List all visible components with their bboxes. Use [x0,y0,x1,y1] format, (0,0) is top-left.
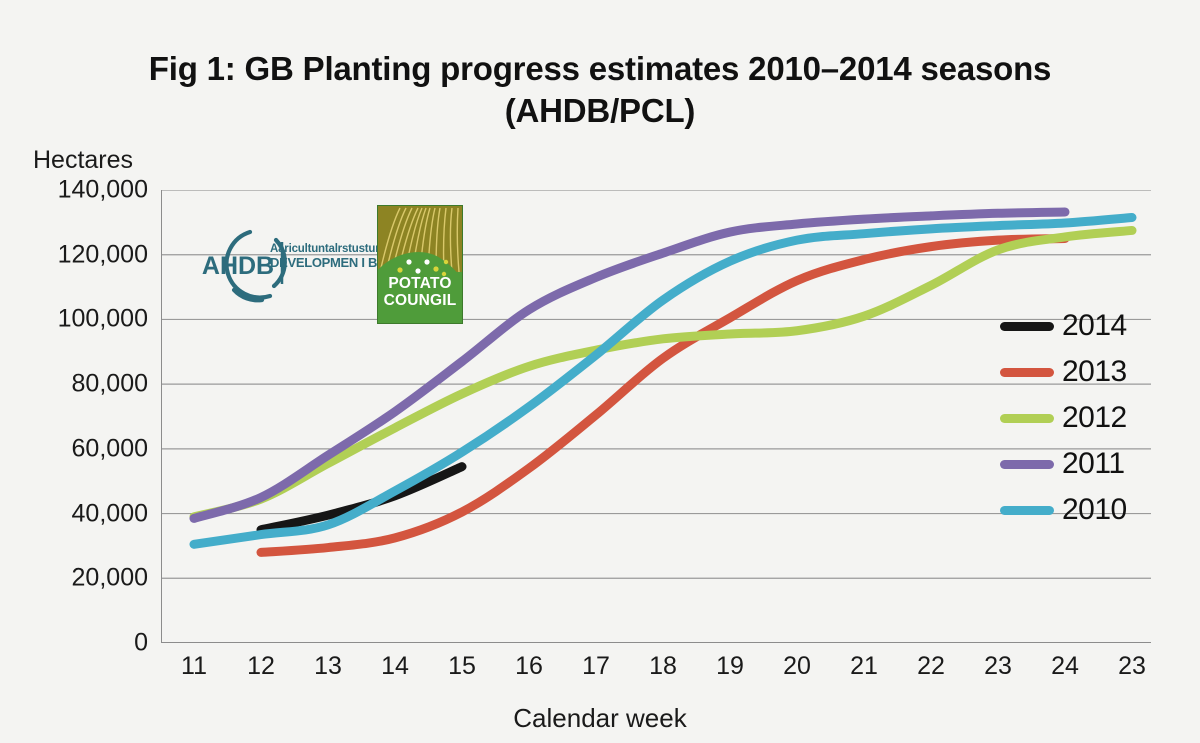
chart-legend: 20142013201220112010 [1000,303,1127,533]
y-axis-tick-label: 0 [28,629,148,658]
y-axis-title: Hectares [33,146,133,175]
legend-swatch-icon [1000,322,1054,331]
potato-council-line-2: COUNGIL [378,293,462,310]
chart-title-line-1: Fig 1: GB Planting progress estimates 20… [149,50,1051,87]
legend-swatch-icon [1000,460,1054,469]
x-axis-tick-label: 17 [566,652,626,681]
x-axis-tick-label: 12 [231,652,291,681]
x-axis-tick-label: 23 [968,652,1028,681]
x-axis-tick-label: 19 [700,652,760,681]
x-axis-tick-label: 22 [901,652,961,681]
legend-label: 2014 [1062,309,1127,343]
x-axis-tick-label: 14 [365,652,425,681]
chart-title-line-2: (AHDB/PCL) [0,90,1200,132]
page-title: Fig 1: GB Planting progress estimates 20… [0,48,1200,132]
legend-label: 2010 [1062,493,1127,527]
legend-item-2014[interactable]: 2014 [1000,303,1127,349]
ahdb-mark-text: AHDB [202,252,274,280]
x-axis-tick-label: 23 [1102,652,1162,681]
x-axis-tick-label: 16 [499,652,559,681]
x-axis-tick-label: 20 [767,652,827,681]
x-axis-tick-label: 11 [164,652,224,681]
legend-swatch-icon [1000,368,1054,377]
x-axis-tick-label: 13 [298,652,358,681]
potato-council-wordmark: POTATO COUNGIL [378,276,462,309]
y-axis-tick-label: 40,000 [28,499,148,528]
legend-item-2011[interactable]: 2011 [1000,441,1127,487]
potato-council-line-1: POTATO [378,276,462,293]
y-axis-tick-label: 80,000 [28,370,148,399]
x-axis-tick-label: 18 [633,652,693,681]
y-axis-tick-label: 20,000 [28,564,148,593]
legend-swatch-icon [1000,414,1054,423]
y-axis-tick-label: 140,000 [28,176,148,205]
legend-label: 2013 [1062,355,1127,389]
legend-item-2013[interactable]: 2013 [1000,349,1127,395]
legend-label: 2012 [1062,401,1127,435]
legend-item-2010[interactable]: 2010 [1000,487,1127,533]
x-axis-tick-label: 21 [834,652,894,681]
potato-council-logo: POTATO COUNGIL [377,205,463,324]
y-axis-tick-label: 60,000 [28,434,148,463]
x-axis-tick-label: 15 [432,652,492,681]
y-axis-tick-label: 100,000 [28,305,148,334]
y-axis-tick-label: 120,000 [28,240,148,269]
x-axis-title: Calendar week [0,703,1200,734]
legend-swatch-icon [1000,506,1054,515]
x-axis-tick-label: 24 [1035,652,1095,681]
legend-label: 2011 [1062,447,1125,481]
chart-page: Fig 1: GB Planting progress estimates 20… [0,0,1200,743]
legend-item-2012[interactable]: 2012 [1000,395,1127,441]
